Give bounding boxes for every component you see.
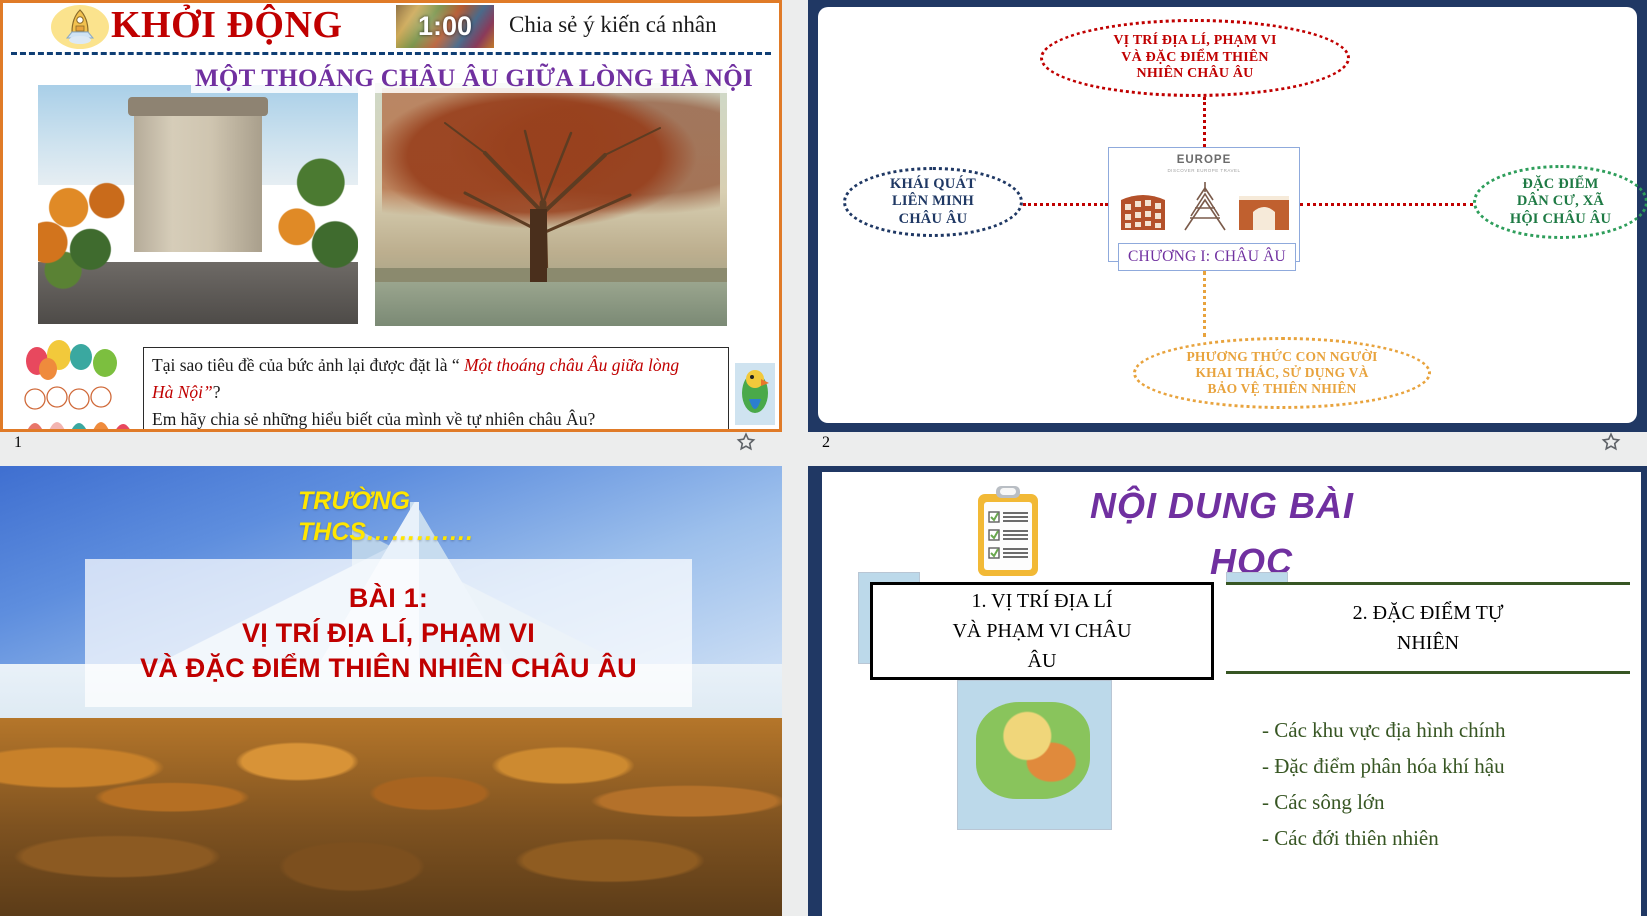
content-box-1-label: 1. VỊ TRÍ ĐỊA LÍ VÀ PHẠM VI CHÂU ÂU [952, 586, 1131, 676]
school-line-2: THCS…………. [298, 517, 473, 548]
mindmap-node-bottom-label: PHƯƠNG THỨC CON NGƯỜI KHAI THÁC, SỬ DỤNG… [1186, 349, 1377, 397]
mindmap-node-bottom[interactable]: PHƯƠNG THỨC CON NGƯỜI KHAI THÁC, SỬ DỤNG… [1133, 337, 1431, 409]
photo2-water [375, 282, 727, 326]
europe-brand-text: EUROPE [1109, 154, 1299, 166]
connector-right [1300, 203, 1473, 206]
slide4-title: NỘI DUNG BÀI HỌC [1090, 478, 1510, 590]
bullet-item: - Các khu vực địa hình chính [1262, 712, 1647, 748]
lesson-title-line-1: VỊ TRÍ ĐỊA LÍ, PHẠM VI [242, 618, 535, 649]
slide4-content-area: NỘI DUNG BÀI HỌC 1. VỊ TRÍ ĐỊA LÍ VÀ P [822, 472, 1641, 916]
question-prefix-1: Tại sao tiêu đề của bức ảnh lại được đặt… [152, 355, 464, 375]
photo1-tower-top [128, 97, 269, 116]
timer-widget[interactable]: 1:00 [396, 5, 494, 48]
photo1-foliage-left [36, 152, 134, 291]
question-emphasis-2: Hà Nội” [152, 382, 213, 402]
mindmap-node-left-label: KHÁI QUÁT LIÊN MINH CHÂU ÂU [890, 176, 976, 227]
header-divider [11, 52, 771, 55]
question-emphasis-1: Một thoáng châu Âu giữa lòng [464, 355, 679, 375]
slide-4-canvas[interactable]: NỘI DUNG BÀI HỌC 1. VỊ TRÍ ĐỊA LÍ VÀ P [808, 466, 1647, 916]
slide-cell-1[interactable]: KHỞI ĐỘNG 1:00 Chia sẻ ý kiến cá nhân MỘ… [0, 0, 782, 432]
slide-1-canvas[interactable]: KHỞI ĐỘNG 1:00 Chia sẻ ý kiến cá nhân MỘ… [0, 0, 782, 432]
photo2-trunk [530, 209, 548, 282]
mindmap-node-top[interactable]: VỊ TRÍ ĐỊA LÍ, PHẠM VI VÀ ĐẶC ĐIỂM THIÊN… [1040, 19, 1350, 97]
slide-2-canvas[interactable]: VỊ TRÍ ĐỊA LÍ, PHẠM VI VÀ ĐẶC ĐIỂM THIÊN… [808, 0, 1647, 432]
parrot-mascot-icon [735, 363, 775, 425]
mindmap-node-top-label: VỊ TRÍ ĐỊA LÍ, PHẠM VI VÀ ĐẶC ĐIỂM THIÊN… [1113, 33, 1276, 83]
bullet-item: - Các sông lớn [1262, 784, 1647, 820]
star-outline-icon-2[interactable] [1601, 432, 1621, 452]
connector-top [1203, 97, 1206, 147]
checklist-clipboard-icon [974, 484, 1042, 580]
question-line-3: Em hãy chia sẻ những hiểu biết của mình … [152, 406, 720, 432]
map3-landmass [976, 702, 1089, 800]
europe-relief-map-thumb [957, 680, 1112, 830]
slide-number-2: 2 [822, 434, 830, 452]
lesson-title-line-2: VÀ ĐẶC ĐIỂM THIÊN NHIÊN CHÂU ÂU [140, 653, 637, 684]
timer-value: 1:00 [396, 5, 494, 48]
question-suffix-2: ? [213, 382, 221, 402]
photo1-tower [134, 104, 262, 252]
slide3-autumn-forest [0, 718, 782, 916]
slide4-title-line-1: NỘI DUNG BÀI [1090, 485, 1354, 526]
rocket-icon [59, 6, 101, 48]
lesson-number-label: BÀI 1: [349, 583, 428, 614]
question-line-2: Hà Nội”? [152, 379, 720, 406]
slide4-bullet-list: - Các khu vực địa hình chính - Đặc điểm … [1262, 712, 1647, 856]
autumn-tree-hanoi-photo [375, 83, 727, 326]
mindmap-node-right-label: ĐẶC ĐIỂM DÂN CƯ, XÃ HỘI CHÂU ÂU [1510, 176, 1611, 227]
slide-cell-3[interactable]: TRƯỜNG THCS…………. BÀI 1: VỊ TRÍ ĐỊA LÍ, P… [0, 466, 782, 916]
mindmap-node-right[interactable]: ĐẶC ĐIỂM DÂN CƯ, XÃ HỘI CHÂU ÂU [1473, 165, 1647, 239]
content-box-1[interactable]: 1. VỊ TRÍ ĐỊA LÍ VÀ PHẠM VI CHÂU ÂU [870, 582, 1214, 680]
slide-grid: KHỞI ĐỘNG 1:00 Chia sẻ ý kiến cá nhân MỘ… [0, 0, 1647, 916]
school-name-text: TRƯỜNG THCS…………. [298, 486, 473, 549]
school-line-1: TRƯỜNG [298, 486, 473, 517]
slide1-title: KHỞI ĐỘNG [111, 3, 342, 47]
content-box-2-label: 2. ĐẶC ĐIỂM TỰ NHIÊN [1353, 598, 1504, 658]
question-box: Tại sao tiêu đề của bức ảnh lại được đặt… [143, 347, 729, 432]
slide2-content-area: VỊ TRÍ ĐỊA LÍ, PHẠM VI VÀ ĐẶC ĐIỂM THIÊN… [818, 7, 1637, 423]
slide-cell-4[interactable]: NỘI DUNG BÀI HỌC 1. VỊ TRÍ ĐỊA LÍ VÀ P [808, 466, 1647, 916]
share-prompt-label: Chia sẻ ý kiến cá nhân [509, 12, 717, 38]
european-landmarks-illustration [1117, 178, 1293, 236]
slide-3-canvas[interactable]: TRƯỜNG THCS…………. BÀI 1: VỊ TRÍ ĐỊA LÍ, P… [0, 466, 782, 916]
slide1-meta [0, 434, 782, 464]
people-speech-bubbles-icon [21, 339, 136, 432]
connector-left [1023, 203, 1108, 206]
bullet-item: - Đặc điểm phân hóa khí hậu [1262, 748, 1647, 784]
slide-number-1: 1 [14, 434, 22, 452]
slide1-subtitle: MỘT THOÁNG CHÂU ÂU GIỮA LÒNG HÀ NỘI [191, 65, 757, 93]
mindmap-node-left[interactable]: KHÁI QUÁT LIÊN MINH CHÂU ÂU [843, 167, 1023, 237]
hanoi-water-tower-photo [36, 83, 360, 326]
bullet-item: - Các đới thiên nhiên [1262, 820, 1647, 856]
star-outline-icon-1[interactable] [736, 432, 756, 452]
slide-cell-2[interactable]: VỊ TRÍ ĐỊA LÍ, PHẠM VI VÀ ĐẶC ĐIỂM THIÊN… [808, 0, 1647, 432]
europe-brand-subtext: DISCOVER EUROPE TRAVEL [1109, 168, 1299, 173]
content-box-2[interactable]: 2. ĐẶC ĐIỂM TỰ NHIÊN [1226, 582, 1630, 674]
photo1-foliage-right [268, 138, 360, 286]
mindmap-center-label: CHƯƠNG I: CHÂU ÂU [1118, 243, 1296, 271]
connector-bottom [1203, 271, 1206, 337]
lesson-title-banner: BÀI 1: VỊ TRÍ ĐỊA LÍ, PHẠM VI VÀ ĐẶC ĐIỂ… [85, 559, 692, 707]
question-line-1: Tại sao tiêu đề của bức ảnh lại được đặt… [152, 352, 720, 379]
